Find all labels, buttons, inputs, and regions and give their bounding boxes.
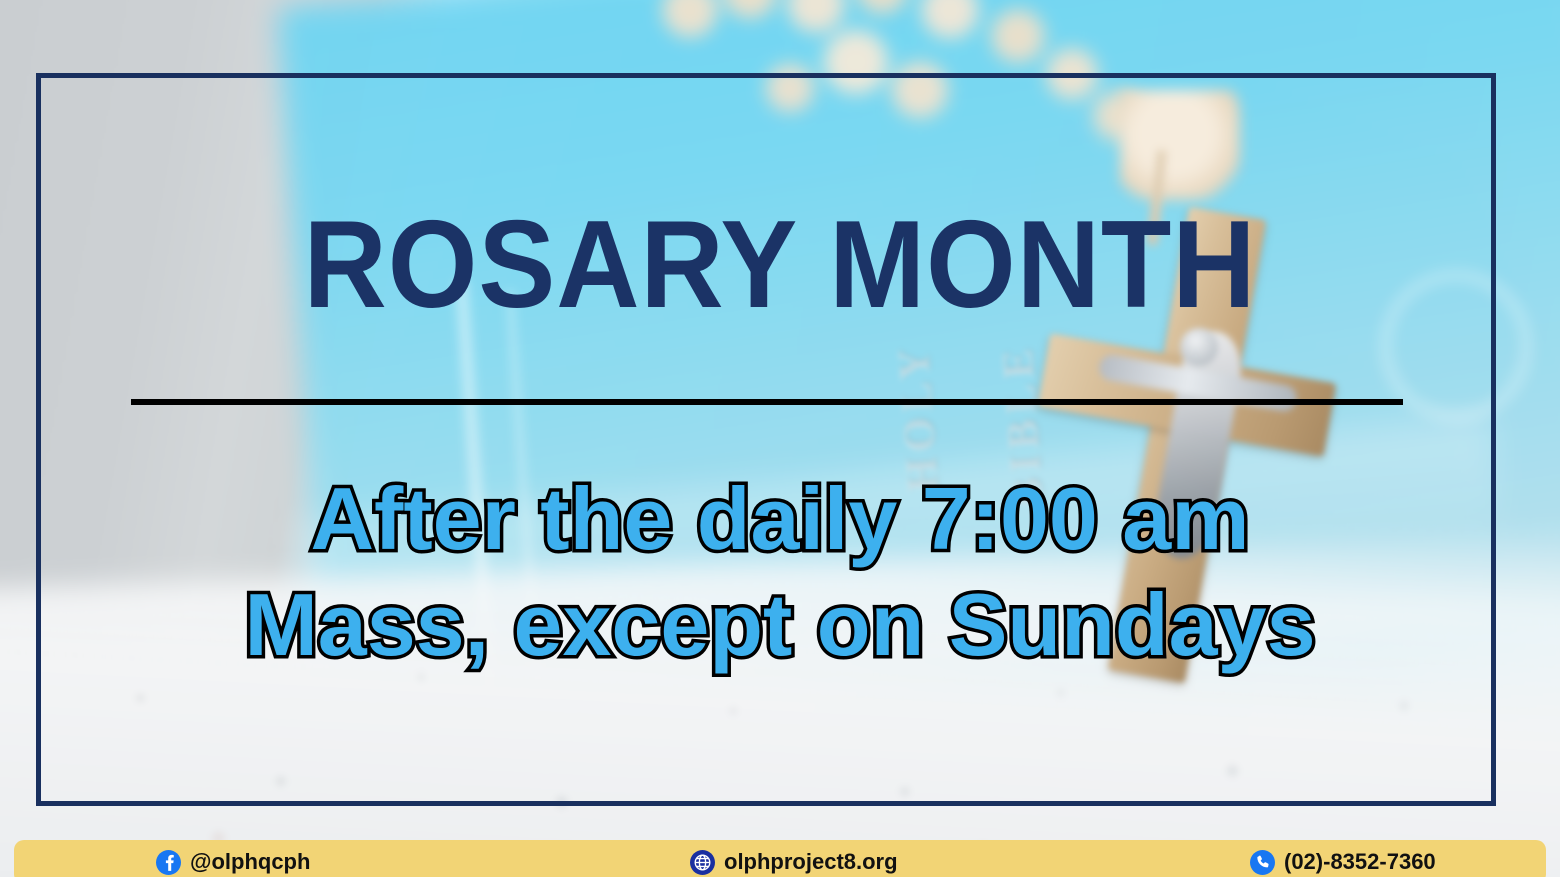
schedule-line-1: After the daily 7:00 am bbox=[0, 466, 1560, 572]
poster-border-frame bbox=[36, 73, 1496, 806]
footer-contact-bar: @olphqcph olphproject8.org (02)-8352-736… bbox=[14, 840, 1546, 877]
rosary-month-poster: HOLY BIBLE ROSARY MONTH After the daily … bbox=[0, 0, 1560, 877]
footer-website[interactable]: olphproject8.org bbox=[690, 849, 898, 875]
footer-facebook-label: @olphqcph bbox=[190, 849, 310, 875]
footer-phone-label: (02)-8352-7360 bbox=[1284, 849, 1436, 875]
title-divider bbox=[131, 399, 1403, 405]
page-title: ROSARY MONTH bbox=[55, 203, 1506, 327]
schedule-line-2: Mass, except on Sundays bbox=[0, 572, 1560, 678]
footer-phone[interactable]: (02)-8352-7360 bbox=[1250, 849, 1436, 875]
schedule-text: After the daily 7:00 am Mass, except on … bbox=[0, 466, 1560, 678]
facebook-icon bbox=[156, 850, 181, 875]
footer-facebook[interactable]: @olphqcph bbox=[156, 849, 310, 875]
phone-icon bbox=[1250, 850, 1275, 875]
footer-website-label: olphproject8.org bbox=[724, 849, 898, 875]
globe-icon bbox=[690, 850, 715, 875]
